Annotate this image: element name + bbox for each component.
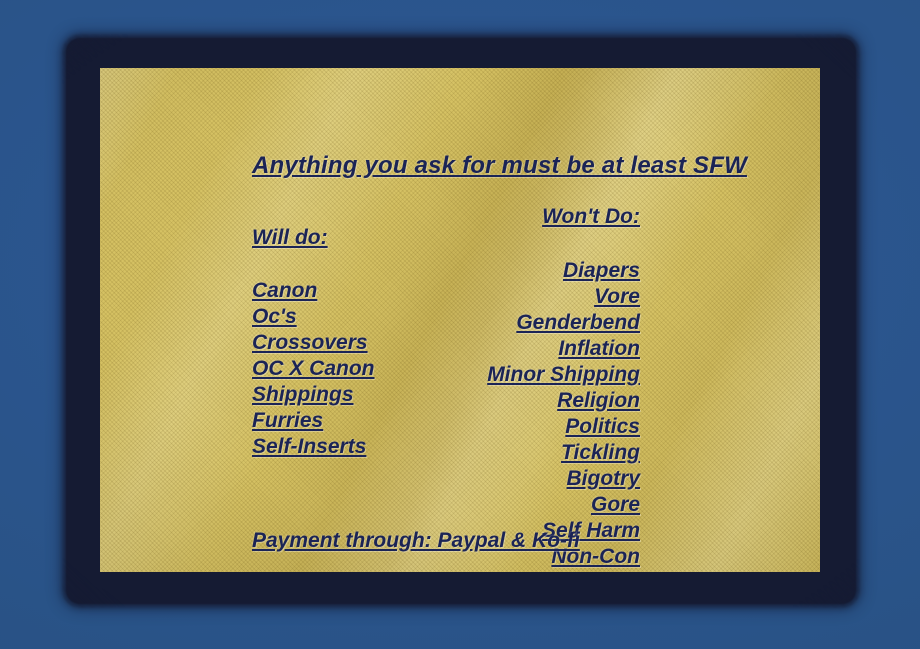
wont-do-item: Inflation — [487, 336, 640, 362]
wont-do-list: Diapers Vore Genderbend Inflation Minor … — [487, 258, 640, 572]
will-do-heading: Will do: — [252, 226, 328, 250]
will-do-item: Oc's — [252, 304, 375, 330]
will-do-item: OC X Canon — [252, 356, 375, 382]
wont-do-item: Gore — [487, 492, 640, 518]
will-do-list: Canon Oc's Crossovers OC X Canon Shippin… — [252, 278, 375, 460]
will-do-item: Crossovers — [252, 330, 375, 356]
will-do-item: Furries — [252, 408, 375, 434]
wont-do-item: Bigotry — [487, 466, 640, 492]
poster-content: Anything you ask for must be at least SF… — [100, 68, 820, 572]
wont-do-heading: Won't Do: — [542, 205, 640, 229]
wont-do-item: Genderbend — [487, 310, 640, 336]
wont-do-item: Religion — [487, 388, 640, 414]
payment-methods-line: Payment through: Paypal & Ko-fi — [252, 529, 580, 553]
poster-panel: Anything you ask for must be at least SF… — [100, 68, 820, 572]
wont-do-item: Minor Shipping — [487, 362, 640, 388]
wont-do-item: Diapers — [487, 258, 640, 284]
will-do-item: Self-Inserts — [252, 434, 375, 460]
wont-do-item: Vore — [487, 284, 640, 310]
wont-do-item: Politics — [487, 414, 640, 440]
wont-do-item: Tickling — [487, 440, 640, 466]
wont-do-item: Age-Ups — [487, 570, 640, 572]
will-do-item: Shippings — [252, 382, 375, 408]
poster-title: Anything you ask for must be at least SF… — [252, 152, 747, 180]
will-do-item: Canon — [252, 278, 375, 304]
page-background: Anything you ask for must be at least SF… — [0, 0, 920, 649]
